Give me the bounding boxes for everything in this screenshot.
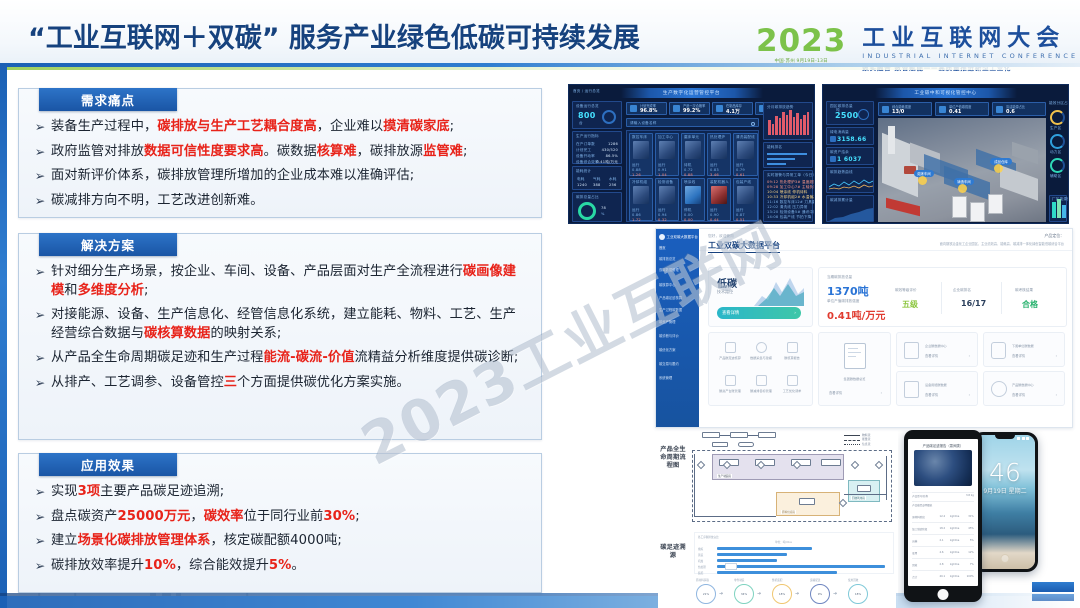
kpi-value: 13/0: [892, 109, 911, 115]
row-value: 0.41吨/万元: [596, 160, 618, 165]
node-value: 9%: [811, 592, 829, 596]
tool-label: 碳减排目标管理: [747, 388, 775, 393]
row-value: 2.8: [940, 563, 944, 566]
bullet-text: 面对新评价体系，碳排放管理所增加的企业成本难以准确评估;: [51, 167, 414, 186]
kpi-value: 0.41: [949, 109, 971, 115]
button-label: 查看详情: [722, 310, 739, 316]
kpi-value: 16/17: [961, 299, 986, 308]
list-item[interactable]: 热处理炉 运行 0.83 3.46: [707, 133, 731, 176]
item-carbon: 0.61: [736, 173, 745, 177]
search-input[interactable]: 请输入设备名称: [626, 118, 759, 127]
list-item[interactable]: 喷涂线 停机 0.00 0.00: [681, 178, 705, 221]
panel-label: 生产运行指标: [576, 134, 599, 139]
list-item: ➢ 从产品全生命周期碳足迹和生产过程能流-碳流-价值流精益分析维度提供碳诊断;: [29, 349, 529, 368]
scene-marker-icon[interactable]: [918, 176, 927, 185]
brand-label: 工业双碳大数据平台: [667, 234, 698, 239]
tool-label: 工艺优化调参: [778, 388, 806, 393]
trace-ring[interactable]: 21%: [696, 584, 716, 604]
scene-building: [1000, 165, 1038, 201]
report-icon: [787, 342, 798, 353]
bullet-arrow-icon: ➢: [29, 483, 51, 501]
slide-root: “工业互联网＋双碳” 服务产业绿色低碳可持续发展 2023 中国·苏州 9月19…: [0, 0, 1080, 608]
tool-item[interactable]: 产品碳足迹核算: [716, 342, 744, 360]
kpi-label: 清洁能源占比: [1006, 104, 1025, 109]
item-oee: 0.94: [658, 213, 667, 217]
item-oee: 0.91: [658, 168, 667, 172]
scene-chimney: [888, 126, 895, 154]
item-carbon: 0.00: [684, 218, 693, 222]
sidebar-item-process-carbon[interactable]: 生产过程碳数据: [659, 307, 682, 312]
dashboard2-energy-structure: 厂区能源结构: [1049, 195, 1067, 222]
card-link[interactable]: 查看详情 ›: [1012, 353, 1057, 358]
dashboard1-kpi[interactable]: 产品一次合格率99.2%: [669, 102, 710, 115]
diagram-region-material: 原料供应段: [776, 492, 840, 516]
dashboard1-panel-equipment: 设备运行总览 800 台: [572, 101, 622, 129]
list-item: ➢ 碳减排方向不明，工艺改进创新难。: [29, 192, 529, 211]
bullet-arrow-icon: ➢: [29, 349, 51, 367]
item-carbon: 0.32: [658, 218, 667, 222]
row-value: 430/520: [602, 148, 618, 152]
equipment-thumbnail: [737, 186, 754, 205]
ledger-icon: [830, 156, 836, 162]
panel-unit: 吨: [836, 108, 840, 113]
panel-tab-pain-points: 需求痛点: [39, 88, 177, 111]
panel-label: 园区碳排总量: [830, 104, 853, 109]
dashboard2-panel-reduction: 碳减排累计量: [826, 195, 874, 222]
item-oee: 0.86: [632, 213, 641, 217]
bullet-arrow-icon: ➢: [29, 557, 51, 575]
breadcrumb: 您好，欢迎使用: [708, 234, 734, 239]
dashboard1-kpi[interactable]: 在制品库存4.1万: [712, 102, 753, 115]
row-key: 回收: [912, 563, 917, 567]
scene-marker-icon[interactable]: [958, 184, 967, 193]
link-label: 查看详情: [1012, 353, 1025, 358]
row-share: 12%: [968, 551, 974, 554]
cell-key: 气耗: [593, 177, 601, 182]
factory-3d-scene[interactable]: 熔炼车间 铸造车间 成品仓库: [878, 118, 1046, 222]
lockscreen-display: 46 9月19日 星期二: [975, 435, 1035, 569]
ledger-icon: [725, 375, 736, 386]
item-name: 清洗装配线: [736, 135, 755, 140]
panel-tab-results: 应用效果: [39, 453, 177, 476]
donut-value: 78: [601, 206, 606, 210]
list-item[interactable]: 包装产线 运行 0.87 0.51: [733, 178, 758, 221]
bar: [717, 565, 885, 568]
kpi-icon: [716, 105, 723, 112]
dashboard2-kpi[interactable]: 清洁能源占比0.6: [992, 102, 1046, 116]
cat-label: 熔炼: [698, 547, 703, 551]
node-label: 原材料获取: [696, 578, 709, 582]
group-data-card[interactable]: 集团碳数据总览 查看详情 ›: [818, 332, 891, 406]
bullet-text: 政府监管对排放数据可信性度要求高。碳数据核算难，碳排放源监管难;: [51, 143, 468, 162]
tools-card: 产品碳足迹核算 数据采集与建模 碳核算报告 碳资产台账管理 碳减排目标管理 工艺…: [708, 332, 813, 406]
row-unit: kgCO₂e: [950, 551, 959, 554]
diagram-node: [821, 459, 841, 466]
item-name: 喷涂线: [684, 180, 695, 185]
list-item: ➢ 从排产、工艺调参、设备管控三个方面提供碳优化方案实施。: [29, 374, 529, 393]
scene-building: [1012, 142, 1038, 164]
scene-truck: [952, 196, 967, 218]
divider: [941, 282, 942, 314]
dashboard2-kpi[interactable]: 综合能耗强度13/0: [878, 102, 932, 116]
row-unit: kgCO₂e: [950, 539, 959, 542]
item-oee: 0.90: [710, 213, 719, 217]
tool-item[interactable]: 碳减排目标管理: [747, 375, 775, 393]
dashboard1-panel-carbon-share: 碳排总量占比 78 %: [572, 192, 622, 222]
donut-chart: [578, 202, 596, 220]
dashboard1-alarm-panel: 实时报警与异常工单（今日） 09:12 热处理炉3# 温度超限 09:28 加工…: [763, 170, 813, 222]
item-name: 加工中心: [658, 135, 673, 140]
lifecycle-diagram: 生产制造段 原料供应段 回收利用段: [690, 432, 896, 530]
donut-chart: [1050, 158, 1065, 173]
kpi-label: 当期碳排放总量: [827, 275, 852, 280]
panel-value: 3158.66: [837, 136, 866, 143]
dashboard1-panel-energy: 能耗统计 电耗 1240 气耗 388 水耗 256: [572, 166, 622, 190]
cat-label: 热处理: [698, 565, 706, 569]
gauge-icon: [858, 109, 869, 120]
bullet-text: 对接能源、设备、生产信息化、经管信息化系统，建立能耗、物料、工艺、生产经营综合数…: [51, 306, 529, 343]
platform-brand: 工业双碳大数据平台: [659, 232, 697, 241]
item-carbon: 0.51: [736, 218, 745, 222]
item-name: 磨床单元: [684, 135, 699, 140]
node-value: 34%: [735, 592, 753, 596]
arrow-right-icon: ➜: [757, 592, 761, 597]
cell-value: 388: [593, 183, 600, 187]
page-title: “工业互联网＋双碳” 服务产业绿色低碳可持续发展: [28, 16, 640, 55]
link-label: 查看详情: [829, 390, 842, 395]
panel-results: 应用效果 ➢ 实现3项主要产品碳足迹追溯; ➢ 盘点碳资产25000万元，碳效率…: [18, 453, 542, 593]
panel-label: 碳资产结余: [830, 150, 849, 155]
product-image: [914, 450, 973, 486]
row-share: 5%: [970, 539, 974, 542]
row-value: 1286: [608, 142, 618, 146]
diagram-node: [857, 485, 871, 492]
status-icons: [1017, 437, 1029, 440]
item-name: 检测设备: [658, 180, 673, 185]
scene-truck: [970, 202, 985, 222]
report-title: 产品碳足迹报告（泵阀类）: [908, 443, 978, 448]
diagram-node: [712, 442, 728, 447]
row-key: 运输: [912, 539, 917, 543]
donut-chart: [1050, 110, 1065, 125]
trace-node-row: 原材料获取 21% ➜ 零件制造 34% ➜ 整机装配 18% ➜ 运输配送 9…: [694, 578, 894, 608]
item-name: 冷却机组: [632, 180, 647, 185]
item-name: 包装产线: [736, 180, 751, 185]
region-label: 生产制造段: [717, 474, 732, 478]
row-share: 100%: [967, 575, 974, 578]
bullet-arrow-icon: ➢: [29, 143, 51, 161]
item-name: 数控车床: [632, 135, 647, 140]
node-label: 使用回收: [848, 578, 858, 582]
enterprise-data-card[interactable]: 企业碳数据中心 查看详情 ›: [896, 332, 978, 367]
kpi-value: 0.41吨/万元: [827, 307, 885, 322]
bullet-text: 针对细分生产场景，按企业、车间、设备、产品层面对生产全流程进行碳画像建模和多维度…: [51, 263, 529, 300]
diagram-link: [720, 435, 730, 436]
kpi-value: 0.6: [1006, 109, 1025, 115]
panel-solution: 解决方案 ➢ 针对细分生产场景，按企业、车间、设备、产品层面对生产全流程进行碳画…: [18, 233, 542, 440]
tool-label: 产品碳足迹核算: [716, 355, 744, 360]
ring-label: 动力区: [1050, 150, 1061, 155]
flow-label-lifecycle: 产品全生命周期流程图: [658, 446, 688, 470]
bullet-arrow-icon: ➢: [29, 508, 51, 526]
node-value: 21%: [697, 592, 715, 596]
list-item[interactable]: 清洗装配线 运行 0.79 0.61: [733, 133, 758, 176]
chevron-right-icon: ›: [794, 311, 796, 316]
panel-label: 碳排趋势曲线: [830, 170, 853, 175]
equipment-thumbnail: [685, 186, 702, 205]
chart-axis-note: 单位：吨CO₂e: [775, 540, 792, 544]
grade-value: 低碳: [717, 275, 737, 290]
kpi-icon: [939, 106, 946, 113]
screenshot-mobile-app[interactable]: 46 9月19日 星期二 产品碳足迹报告（泵阀类） 产品型号/名称 3.8 kg…: [898, 430, 1074, 608]
chevron-right-icon: ›: [969, 354, 970, 358]
kpi-icon: [630, 105, 637, 112]
row-share: 31%: [968, 515, 974, 518]
sidebar-item-optimization[interactable]: 碳优化方案: [659, 347, 675, 352]
bar: [1062, 205, 1066, 218]
cell-value: 1240: [577, 183, 587, 187]
energy-icon: [830, 136, 836, 142]
tool-item[interactable]: 碳资产台账管理: [716, 375, 744, 393]
slide-header: “工业互联网＋双碳” 服务产业绿色低碳可持续发展 2023 中国·苏州 9月19…: [0, 0, 1080, 66]
process-carbon-bar-chart: 各工序碳排放占比 单位：吨CO₂e 熔炼 铸造 机加 热处理 装配: [694, 532, 894, 574]
target-icon: [756, 375, 767, 386]
dashboard1-panel-indicators: 生产运行指标 在产订单数 1286 计划完工 430/520 设备开动率 86.…: [572, 131, 622, 164]
brand-logo-icon: [659, 234, 665, 240]
item-oee: 0.00: [684, 213, 693, 217]
scene-truck: [886, 198, 920, 216]
row-unit: kgCO₂e: [950, 515, 959, 518]
screenshot-carbon-visual-center[interactable]: 工业碳中和可视化管控中心 园区碳排总量 2500 吨 绿电消纳量 3158.66…: [822, 84, 1069, 224]
header-rule-green: [0, 67, 1080, 70]
item-carbon: 1.04: [658, 173, 667, 177]
diagram-node: [799, 498, 815, 505]
position-label: 产品定位：: [1045, 233, 1064, 239]
row-key: 原材料阶段: [912, 515, 925, 519]
product-icon: [991, 381, 1007, 397]
scene-marker-icon[interactable]: [994, 164, 1003, 173]
dashboard2-kpi[interactable]: 单位产值碳强度0.41: [935, 102, 989, 116]
panel-label: 碳排总量占比: [576, 195, 599, 200]
view-details-button[interactable]: 查看详情 ›: [717, 307, 801, 319]
product-data-card[interactable]: 产品碳数据中心 查看详情 ›: [983, 371, 1065, 406]
row-key: 设备开动率: [576, 154, 595, 159]
row-key: 设备综合效率: [576, 160, 599, 165]
subsidiary-data-card[interactable]: 下属单位碳数据 查看详情 ›: [983, 332, 1065, 367]
dashboard2-panel-asset: 碳资产结余 1 6037: [826, 147, 874, 165]
panel-value: 800: [578, 111, 596, 120]
chart-title: 各工序碳排放占比: [698, 535, 719, 539]
list-item[interactable]: 数控车床 运行 0.88 1.26: [629, 133, 653, 176]
panel-label: 设备运行总览: [576, 104, 599, 109]
dashboard1-kpi[interactable]: 计划完成率96.8%: [626, 102, 667, 115]
page-title: 工业双碳大数据平台: [708, 240, 780, 253]
home-button[interactable]: [938, 589, 949, 600]
sidebar-item-home[interactable]: 首页: [659, 245, 666, 250]
diagram-link: [694, 516, 776, 517]
device-icon: [904, 381, 919, 398]
lockscreen-time: 46: [975, 460, 1035, 485]
diagram-region-production: 生产制造段: [712, 454, 844, 480]
bullet-text: 从产品全生命周期碳足迹和生产过程能流-碳流-价值流精益分析维度提供碳诊断;: [51, 349, 518, 368]
tool-label: 数据采集与建模: [747, 355, 775, 360]
panel-label: 碳减排累计量: [830, 198, 853, 203]
trace-ring[interactable]: 18%: [848, 584, 868, 604]
list-item[interactable]: 加工中心 运行 0.91 1.04: [655, 133, 679, 176]
diagram-node: [702, 432, 720, 438]
panel-label: 能耗统计: [576, 169, 591, 174]
card-link[interactable]: 查看详情 ›: [1012, 392, 1057, 397]
bullet-text: 碳排放效率提升10%，综合能效提升5%。: [51, 557, 305, 576]
cell-key: 水耗: [609, 177, 617, 182]
card-title: 企业碳数据中心: [925, 343, 947, 348]
diagram-region-recycle: 回收利用段: [848, 480, 880, 502]
tool-item[interactable]: 数据采集与建模: [747, 342, 775, 360]
kpi-value: 合格: [1022, 299, 1038, 310]
alarm-row: 14:08 包装产线 节拍下降: [767, 215, 811, 220]
kpi-value: 96.8%: [640, 108, 657, 114]
cell-value: 256: [609, 183, 616, 187]
bullet-arrow-icon: ➢: [29, 192, 51, 210]
decorative-blue-strip: [1032, 594, 1074, 601]
sidebar-item-accounting-center[interactable]: 碳核算中心: [659, 282, 675, 287]
position-subtitle: 面向钢铁冶金化工企业园区，主业绩效高、能耗高、碳减排一体化绿色智能低碳综合平台: [940, 241, 1064, 246]
logo-chinese-name: 工业互联网大会: [862, 26, 1078, 50]
row-key: 合计: [912, 575, 917, 579]
kpi-card: 当期碳排放总量 1370吨 单位产值碳排放强度 0.41吨/万元 碳效等级评价 …: [818, 267, 1067, 327]
wallpaper-beach: [975, 435, 1035, 569]
row-key: 使用: [912, 551, 917, 555]
cell-key: 电耗: [577, 177, 585, 182]
screenshot-carbon-bigdata-platform[interactable]: 工业双碳大数据平台 首页 碳排放总览 双碳数据管理 碳核算中心 产品碳足迹核算 …: [655, 228, 1073, 428]
panel-label: 能效分区占比: [1049, 101, 1069, 106]
item-carbon: 0.88: [684, 173, 693, 177]
list-item[interactable]: 检测设备 运行 0.94 0.32: [655, 178, 679, 221]
search-icon[interactable]: [751, 122, 755, 126]
link-label: 查看详情: [925, 392, 938, 397]
dashboard2-panel-total: 园区碳排总量 2500 吨: [826, 101, 874, 125]
logo-english-name: INDUSTRIAL INTERNET CONFERENCE: [862, 52, 1078, 60]
row-unit: kgCO₂e: [950, 563, 959, 566]
sidebar-item-product-footprint[interactable]: 产品碳足迹核算: [659, 295, 682, 300]
list-item: ➢ 面对新评价体系，碳排放管理所增加的企业成本难以准确评估;: [29, 167, 529, 186]
panel-pain-points: 需求痛点 ➢ 装备生产过程中，碳排放与生产工艺耦合度高，企业难以摸清碳家底; ➢…: [18, 88, 542, 218]
bullet-arrow-icon: ➢: [29, 118, 51, 136]
card-link[interactable]: 查看详情 ›: [925, 392, 970, 397]
screenshot-production-dashboard[interactable]: 生产数字化运营管控平台 首页 / 运行总览 设备运行总览 800 台 生产运行指…: [568, 84, 815, 224]
bar: [1052, 202, 1056, 218]
trace-ring[interactable]: 18%: [772, 584, 792, 604]
rank-bar: [767, 158, 795, 160]
sidebar-item-asset-management[interactable]: 碳资产管理: [659, 319, 675, 324]
kpi-value: 4.1万: [726, 108, 742, 115]
search-placeholder: 请输入设备名称: [630, 121, 657, 126]
card-link[interactable]: 查看详情 ›: [829, 390, 882, 395]
card-title: 集团碳数据总览: [819, 376, 890, 381]
row-value: 86.5%: [606, 154, 618, 158]
equipment-thumbnail: [685, 141, 702, 160]
row-unit: kgCO₂e: [950, 527, 959, 530]
list-item[interactable]: 冷却机组 运行 0.86 1.72: [629, 178, 653, 221]
document-icon: [844, 343, 866, 369]
ring-label: 生产区: [1050, 126, 1061, 131]
kpi-label: 单位产值碳排放强度: [827, 299, 859, 304]
tool-item[interactable]: 碳核算报告: [778, 342, 806, 360]
cat-label: 机加: [698, 559, 703, 563]
divider: [1001, 282, 1002, 314]
sidebar-item-trading[interactable]: 碳交易与履约: [659, 361, 679, 366]
bar-chart: [768, 109, 809, 135]
bullet-text: 从排产、工艺调参、设备管控三个方面提供碳优化方案实施。: [51, 374, 410, 393]
grade-card: 低碳 技术路径 查看详情 ›: [708, 267, 813, 327]
diagram-node: [758, 432, 776, 438]
sidebar-item-system[interactable]: 系统管理: [659, 375, 672, 380]
kpi-label: 碳考核结果: [1015, 288, 1033, 293]
fingerprint-icon[interactable]: [1001, 554, 1010, 563]
row-key: 计划完工: [576, 148, 591, 153]
diagram-link: [694, 454, 695, 516]
row-share: 7%: [970, 563, 974, 566]
card-link[interactable]: 查看详情 ›: [925, 353, 970, 358]
tooltip-content: [725, 563, 737, 570]
sidebar-item-data-management[interactable]: 双碳数据管理: [659, 267, 679, 272]
item-oee: 0.87: [736, 213, 745, 217]
row-value: 2.1: [940, 539, 944, 542]
bullet-text: 盘点碳资产25000万元，碳效率位于同行业前30%;: [51, 508, 360, 527]
bar: [717, 547, 812, 550]
node-value: 18%: [849, 592, 867, 596]
region-label: 原料供应段: [781, 510, 796, 514]
dashboard2-rings-panel: 能效分区占比 生产区 动力区 辅助区: [1049, 101, 1067, 193]
list-item[interactable]: 磨床单元 待机 0.72 0.88: [681, 133, 705, 176]
flow-label-trace: 碳足迹溯源: [658, 544, 688, 560]
decorative-blue-strip: [1032, 582, 1074, 592]
item-carbon: 3.46: [710, 173, 719, 177]
node-label: 整机装配: [772, 578, 782, 582]
trace-ring[interactable]: 34%: [734, 584, 754, 604]
chevron-right-icon: ›: [1056, 393, 1057, 397]
diagram-link: [844, 494, 886, 495]
tool-item[interactable]: 工艺优化调参: [778, 375, 806, 393]
region-label: 回收利用段: [851, 496, 866, 500]
sidebar-item-diagnosis[interactable]: 碳诊断与评价: [659, 333, 679, 338]
sidebar-item-carbon-overview[interactable]: 碳排放总览: [659, 256, 675, 261]
lockscreen-date: 9月19日 星期二: [975, 486, 1035, 495]
list-item: ➢ 建立场景化碳排放管理体系，核定碳配额4000吨;: [29, 532, 529, 551]
item-oee: 0.72: [684, 168, 693, 172]
item-carbon: 1.72: [632, 218, 641, 222]
list-item[interactable]: 装配机器人 运行 0.90 0.44: [707, 178, 731, 221]
list-item: ➢ 实现3项主要产品碳足迹追溯;: [29, 483, 529, 502]
phone-report[interactable]: 产品碳足迹报告（泵阀类） 产品型号/名称 3.8 kg 产品碳足迹明细表 原材料…: [904, 430, 982, 602]
device-data-card[interactable]: 设备用能碳数据 查看详情 ›: [896, 371, 978, 406]
equipment-thumbnail: [659, 141, 676, 160]
optimize-icon: [787, 375, 798, 386]
row-key: 加工制造阶段: [912, 527, 927, 531]
dashboard1-breadcrumb: 首页 / 运行总览: [573, 89, 600, 94]
diagram-node: [730, 432, 748, 438]
diagram-link: [886, 456, 887, 500]
trace-ring[interactable]: 9%: [810, 584, 830, 604]
factory-icon: [904, 342, 919, 359]
panel-body-solution: ➢ 针对细分生产场景，按企业、车间、设备、产品层面对生产全流程进行碳画像建模和多…: [19, 234, 541, 403]
gauge-icon: [602, 110, 616, 124]
link-label: 查看详情: [1012, 392, 1025, 397]
card-title: 下属单位碳数据: [1012, 343, 1034, 348]
kpi-value: 五级: [902, 299, 918, 310]
list-item: ➢ 碳排放效率提升10%，综合能效提升5%。: [29, 557, 529, 576]
equipment-thumbnail: [633, 141, 650, 160]
